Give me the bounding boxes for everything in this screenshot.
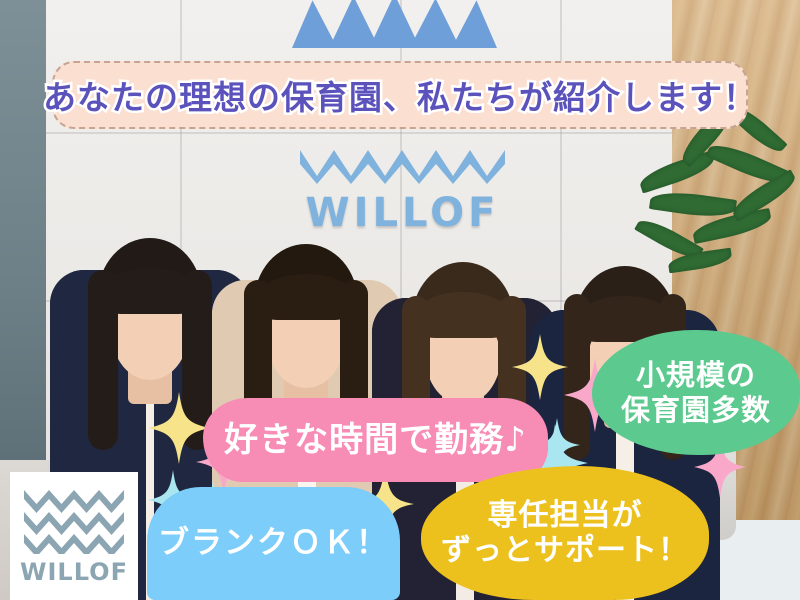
willof-logo-card: WILLOF (10, 472, 138, 600)
wall-logo-zigzag (300, 142, 505, 184)
bubble-yellow-line1: 専任担当が (441, 498, 689, 533)
bubble-pink-text: 好きな時間で勤務♪ (224, 420, 527, 460)
bubble-career-gap-ok: ブランクＯＫ！ (147, 487, 400, 600)
bubble-yellow-line2: ずっとサポート！ (441, 533, 689, 568)
headline-text: あなたの理想の保育園、私たちが紹介します！ (43, 71, 757, 119)
bubble-green-line1: 小規模の (621, 358, 771, 392)
headline-banner: あなたの理想の保育園、私たちが紹介します！ (52, 61, 748, 129)
bubble-flexible-hours: 好きな時間で勤務♪ (203, 398, 548, 482)
willof-zigzag-icon (24, 486, 124, 554)
side-wall-left (0, 0, 46, 470)
bubble-blue-text: ブランクＯＫ！ (158, 525, 389, 562)
sparkle-yellow-mid-icon (512, 334, 568, 400)
bubble-small-nurseries: 小規模の 保育園多数 (592, 330, 800, 455)
advertisement-banner: WILLOF (0, 0, 800, 600)
bubble-green-line2: 保育園多数 (621, 393, 771, 427)
willof-wordmark: WILLOF (10, 558, 138, 586)
wall-logo-zigzag-top (292, 0, 497, 48)
wall-grout-line (46, 132, 676, 134)
